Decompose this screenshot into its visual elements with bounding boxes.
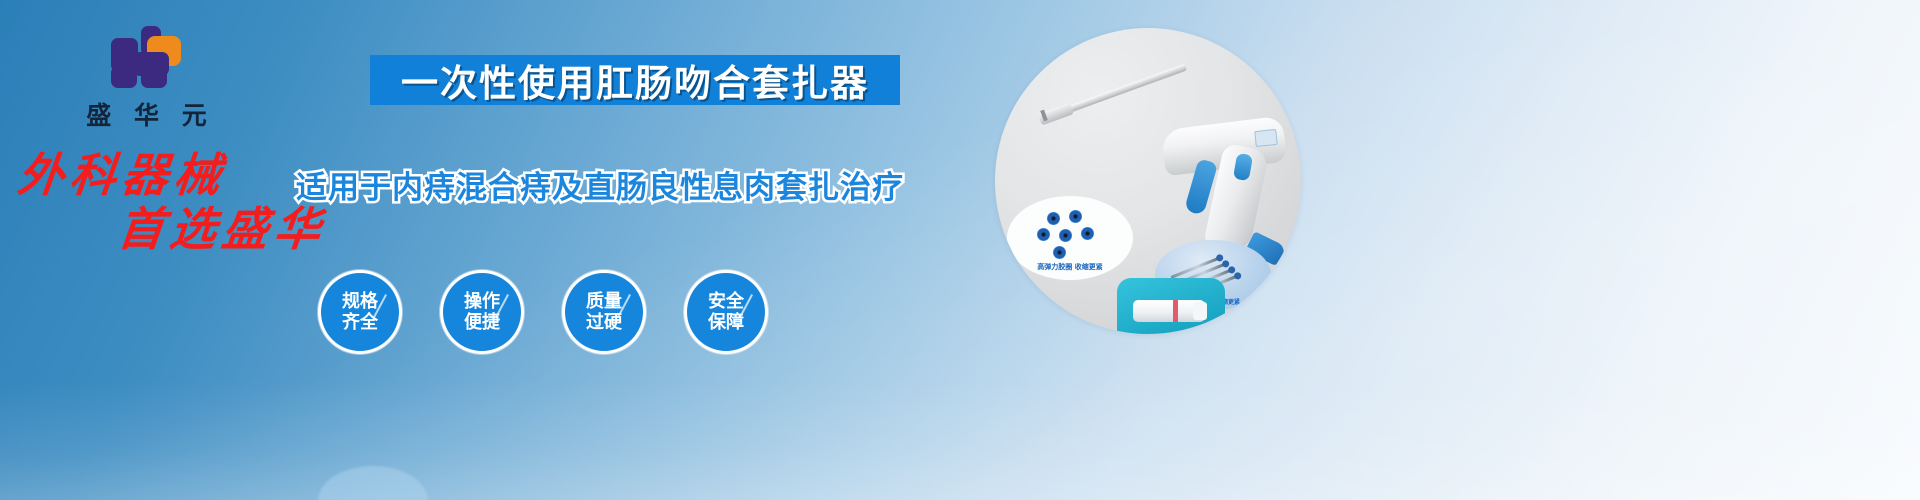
page-title: 一次性使用肛肠吻合套扎器 <box>401 53 869 107</box>
badge-safety[interactable]: 安全 保障 <box>684 270 768 354</box>
feature-badge-list: 规格 齐全 操作 便捷 质量 过硬 安全 保障 <box>318 270 768 354</box>
rubber-ring-icon <box>1037 228 1050 241</box>
badge-label-line-1: 安全 <box>708 291 744 312</box>
badge-label-line-1: 规格 <box>342 291 378 312</box>
brand-name: 盛 华 元 <box>60 96 240 132</box>
badge-specifications[interactable]: 规格 齐全 <box>318 270 402 354</box>
logo-square-bottom-left <box>111 66 137 88</box>
rubber-ring-icon <box>1069 210 1082 223</box>
badge-label-line-1: 质量 <box>586 291 622 312</box>
headline-subtitle: 适用于内痔混合痔及直肠良性息肉套扎治疗 <box>296 162 904 207</box>
accessory-tube-icon <box>1133 300 1205 322</box>
badge-operation[interactable]: 操作 便捷 <box>440 270 524 354</box>
rubber-ring-icon <box>1081 227 1094 240</box>
inset-rings-caption: 高弹力胶圈 收缩更紧 <box>1007 262 1133 272</box>
headline-title-bar: 一次性使用肛肠吻合套扎器 <box>370 55 900 105</box>
logo-square-bottom-right <box>141 66 167 88</box>
shenghuayuan-blocks-logo-icon <box>111 26 189 88</box>
rubber-ring-icon <box>1059 229 1072 242</box>
device-label-sticker <box>1254 129 1278 147</box>
product-photo[interactable]: 高弹力胶圈 收缩更紧 高弹力胶圈收缩更紧 <box>995 28 1301 334</box>
badge-quality[interactable]: 质量 过硬 <box>562 270 646 354</box>
inset-rubber-rings: 高弹力胶圈 收缩更紧 <box>1007 196 1133 280</box>
decorative-blob <box>318 466 428 500</box>
brand-logo-block[interactable]: 盛 华 元 <box>60 26 240 132</box>
rubber-ring-icon <box>1047 212 1060 225</box>
slogan-line-2: 首选盛华 <box>116 206 361 252</box>
rubber-ring-icon <box>1053 246 1066 259</box>
promo-banner: 盛 华 元 外科器械 首选盛华 一次性使用肛肠吻合套扎器 适用于内痔混合痔及直肠… <box>0 0 1920 500</box>
badge-label-line-1: 操作 <box>464 291 500 312</box>
background-bottom-fade <box>0 380 1920 500</box>
inset-accessory-card <box>1117 278 1225 334</box>
